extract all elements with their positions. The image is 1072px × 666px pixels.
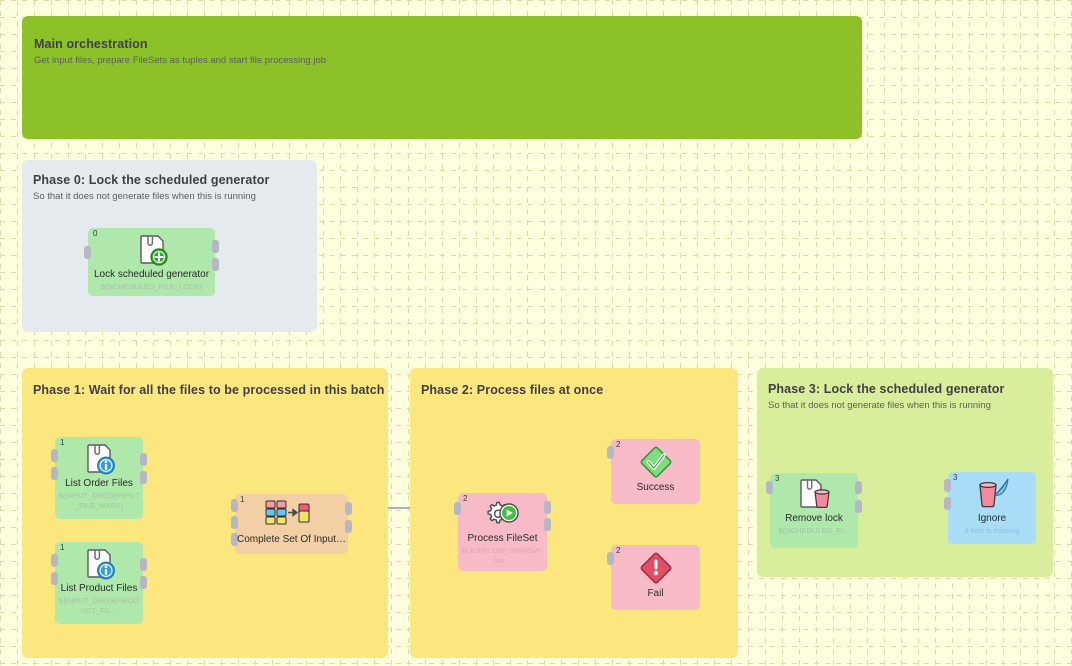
node-ignore[interactable]: 3 Ignore if lock is missing: [948, 472, 1036, 544]
group-main-orchestration[interactable]: Main orchestration Get input files, prep…: [22, 16, 862, 139]
node-label: List Order Files: [57, 478, 141, 490]
node-sublabel: ${SCHEDULED_FILE_LOCK}: [91, 282, 212, 292]
node-sublabel: ${INPUT_DIR}/${INPUT_FILE_MASK}: [58, 491, 140, 510]
node-label: List Product Files: [57, 583, 141, 595]
node-remove-lock[interactable]: 3 Remove lock ${SCHEDULED_FI...: [770, 473, 858, 548]
success-check-icon: [611, 444, 700, 480]
group-phase-2-title: Phase 2: Process files at once: [421, 383, 603, 397]
node-lock-scheduled-generator[interactable]: 0 Lock scheduled generator ${SCHEDULED_F…: [88, 228, 215, 296]
node-list-product-files[interactable]: 1 List Product Files ${INPUT_DIR}/${PROD…: [55, 542, 143, 624]
document-info-icon: [55, 442, 143, 476]
node-label: Process FileSet: [460, 533, 545, 545]
node-list-order-files[interactable]: 1 List Order Files ${INPUT_DIR}/${INPUT_…: [55, 437, 143, 519]
node-sublabel: ${INPUT_DIR}/${PRODUCT_FIL...: [58, 596, 140, 615]
node-sublabel: if lock is missing: [951, 526, 1033, 536]
fail-warning-icon: [611, 550, 700, 586]
trash-feather-icon: [948, 476, 1036, 512]
group-phase-3-title: Phase 3: Lock the scheduled generator: [768, 382, 1004, 396]
group-main-subtitle: Get input files, prepare FileSets as tup…: [34, 55, 326, 66]
node-sublabel: ${SCHEDULED_FI...: [773, 526, 855, 536]
group-phase-3-subtitle: So that it does not generate files when …: [768, 400, 991, 411]
node-fail[interactable]: 2 Fail: [611, 545, 700, 610]
group-phase-0-subtitle: So that it does not generate files when …: [33, 191, 256, 202]
tuple-merge-icon: [235, 498, 348, 528]
node-sublabel: ${JOBFLOW_DIR}/dwh-loa...: [461, 546, 544, 565]
node-label: Complete Set Of Input Files: [237, 534, 346, 546]
document-delete-icon: [770, 477, 858, 511]
document-info-icon: [55, 547, 143, 581]
node-label: Fail: [613, 588, 698, 600]
document-add-icon: [88, 233, 215, 267]
group-phase-1-title: Phase 1: Wait for all the files to be pr…: [33, 383, 385, 397]
group-phase-0-title: Phase 0: Lock the scheduled generator: [33, 173, 269, 187]
workflow-canvas[interactable]: Main orchestration Get input files, prep…: [0, 0, 1072, 666]
node-label: Remove lock: [772, 513, 856, 525]
node-complete-set-of-input-files[interactable]: 1 Complete Set Of Input Files: [235, 494, 348, 554]
node-label: Ignore: [950, 513, 1034, 525]
group-main-title: Main orchestration: [34, 37, 148, 51]
node-label: Lock scheduled generator: [90, 269, 213, 281]
node-process-fileset[interactable]: 2 Process FileSet ${JOBFLOW_DIR}/dwh-loa…: [458, 493, 547, 571]
gear-play-icon: [458, 497, 547, 531]
node-success[interactable]: 2 Success: [611, 439, 700, 504]
node-label: Success: [613, 482, 698, 494]
